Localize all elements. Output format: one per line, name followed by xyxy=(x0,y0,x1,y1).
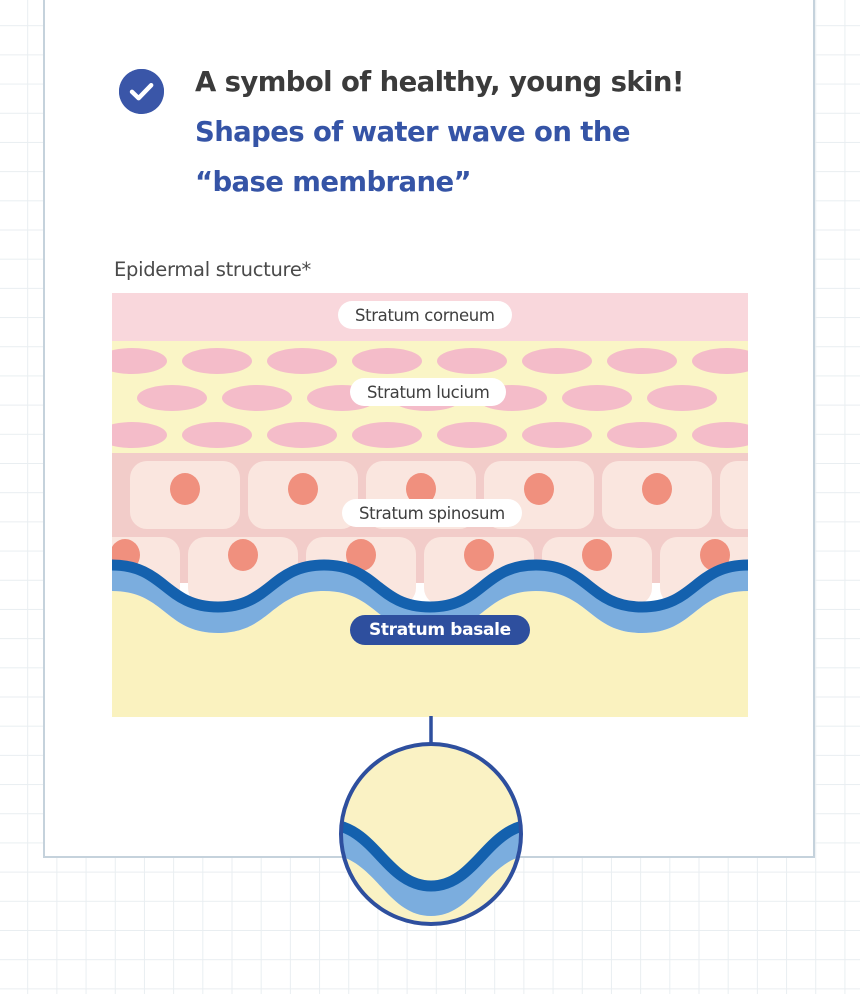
layer-label-lucium: Stratum lucium xyxy=(350,378,506,406)
headline-line-2: Shapes of water wave on the xyxy=(119,107,739,157)
check-circle-icon xyxy=(119,69,164,114)
layer-label-corneum: Stratum corneum xyxy=(338,301,512,329)
diagram-caption: Epidermal structure* xyxy=(114,258,311,281)
layer-label-spinosum: Stratum spinosum xyxy=(342,499,522,527)
headline-line-3: “base membrane” xyxy=(119,157,739,207)
base-membrane-magnifier xyxy=(335,716,527,928)
layer-label-basale: Stratum basale xyxy=(350,615,530,645)
heading-block: A symbol of healthy, young skin! Shapes … xyxy=(119,57,739,207)
headline-line-1: A symbol of healthy, young skin! xyxy=(119,57,739,107)
